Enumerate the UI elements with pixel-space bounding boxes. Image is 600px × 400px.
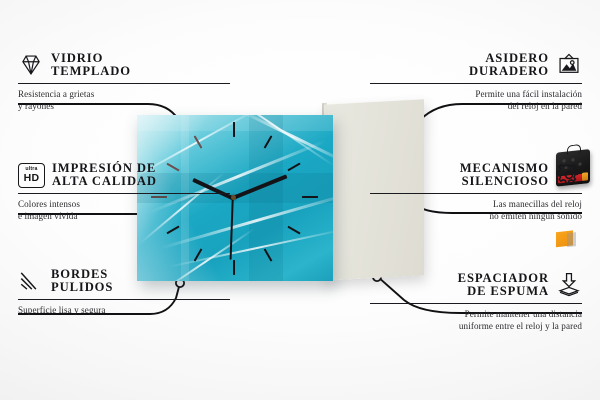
feature-title-line2: ALTA CALIDAD (52, 175, 157, 188)
diamond-icon (18, 52, 44, 78)
feature-divider (370, 303, 582, 305)
feature-title-line1: ASIDERO (485, 52, 549, 65)
hanging-frame-icon (556, 52, 582, 78)
hour-tick-6 (233, 260, 235, 275)
foam-spacer-shadow (567, 232, 576, 247)
feature-description: Permite mantener una distancia uniforme … (370, 308, 582, 332)
feature-title-line1: MECANISMO (460, 162, 549, 175)
feature-title-line1: BORDES (51, 268, 113, 281)
movement-hanger-icon (567, 144, 581, 155)
feature-title-line1: IMPRESIÓN DE (52, 162, 157, 175)
feature-title-line1: VIDRIO (51, 52, 131, 65)
badge-main-label: HD (24, 173, 40, 184)
feature-divider (370, 83, 582, 85)
feature-divider (18, 83, 230, 85)
clock-center-pivot (231, 195, 236, 200)
feature-title-line1: ESPACIADOR (458, 272, 549, 285)
foam-spacer-icon (556, 272, 582, 298)
feature-title-line2: DE ESPUMA (467, 285, 549, 298)
feature-impresion-alta-calidad: ultra HD IMPRESIÓN DE ALTA CALIDAD Color… (18, 162, 230, 223)
feature-vidrio-templado: VIDRIO TEMPLADO Resistencia a grietas y … (18, 52, 230, 113)
feature-title-line2: SILENCIOSO (462, 175, 549, 188)
hour-tick-12 (233, 122, 235, 137)
polished-edges-icon (18, 268, 44, 294)
hour-tick-8 (166, 226, 179, 235)
infographic-canvas: VIDRIO TEMPLADO Resistencia a grietas y … (0, 0, 600, 400)
feature-description: Colores intensos e imagen vívida (18, 198, 230, 222)
feature-divider (18, 299, 230, 301)
feature-description: Superficie lisa y segura (18, 304, 230, 316)
foam-spacer-pad (556, 230, 573, 247)
battery-terminal (582, 172, 588, 181)
feature-divider (18, 193, 230, 195)
feature-divider (370, 193, 582, 195)
feature-mecanismo-silencioso: MECANISMO SILENCIOSO Las manecillas del … (370, 162, 582, 223)
hour-tick-4 (287, 226, 300, 235)
gear-icon (556, 162, 582, 188)
feature-description: Permite una fácil instalación del reloj … (370, 88, 582, 112)
feature-title-line2: TEMPLADO (51, 65, 131, 78)
feature-espaciador-espuma: ESPACIADOR DE ESPUMA Permite mantener un… (370, 272, 582, 333)
feature-bordes-pulidos: BORDES PULIDOS Superficie lisa y segura (18, 268, 230, 316)
feature-title-line2: DURADERO (469, 65, 549, 78)
ultra-hd-badge-icon: ultra HD (18, 163, 45, 188)
hour-tick-2 (287, 163, 300, 172)
feature-description: Las manecillas del reloj no emiten ningú… (370, 198, 582, 222)
feature-asidero-duradero: ASIDERO DURADERO Permite una fácil insta… (370, 52, 582, 113)
feature-description: Resistencia a grietas y rayones (18, 88, 230, 112)
feature-title-line2: PULIDOS (51, 281, 113, 294)
